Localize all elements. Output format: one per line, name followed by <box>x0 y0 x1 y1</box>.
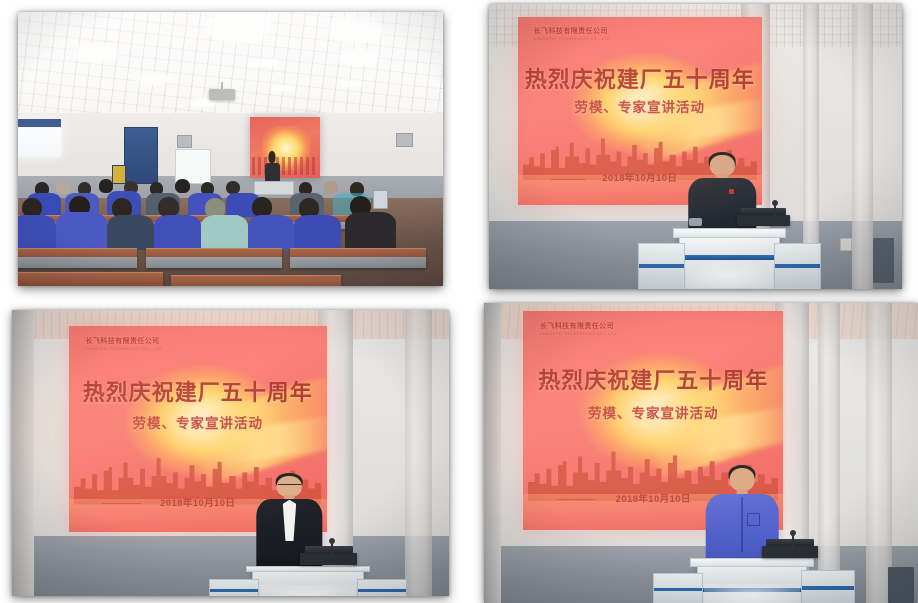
trash-bin <box>888 567 914 603</box>
speaker-uniform-pocket <box>747 513 760 526</box>
speaker-head <box>730 468 755 491</box>
laptop-lid <box>305 546 353 553</box>
slide-company-logo: 长飞科技有限责任公司 CHANGFEI TECHNOLOGY CO., LTD. <box>540 321 618 336</box>
wall-pillar <box>405 310 431 596</box>
podium-side-right <box>801 570 855 603</box>
podium-side-left <box>653 573 703 603</box>
wall-outlet <box>840 238 852 251</box>
slide-title: 热烈庆祝建厂五十周年 <box>69 375 327 407</box>
podium-ledge <box>246 566 371 573</box>
lecture-hall-front-scene: 长飞科技有限责任公司 CHANGFEI TECHNOLOGY CO., LTD.… <box>12 310 449 596</box>
podium-side-right <box>774 243 821 289</box>
laptop-icon <box>300 553 357 564</box>
laptop-icon <box>737 215 791 226</box>
slide-logo-cn: 长飞科技有限责任公司 <box>86 336 164 346</box>
slide-company-logo: 长飞科技有限责任公司 CHANGFEI TECHNOLOGY CO., LTD. <box>534 26 612 41</box>
photo-speaker-blue-content: 长飞科技有限责任公司 CHANGFEI TECHNOLOGY CO., LTD.… <box>484 303 918 603</box>
wall-pillar <box>818 303 840 603</box>
microphone-icon <box>792 534 794 549</box>
podium-stripe <box>358 589 406 591</box>
photo-collage: 长飞科技有限责任公司 CHANGFEI TECHNOLOGY CO., LTD.… <box>0 0 918 603</box>
podium-side-left <box>209 579 259 596</box>
podium-glow <box>260 585 356 596</box>
microphone-icon <box>774 204 776 221</box>
photo-speaker-blue[interactable]: 长飞科技有限责任公司 CHANGFEI TECHNOLOGY CO., LTD.… <box>484 303 918 603</box>
laptop-lid <box>766 539 813 546</box>
podium-glow <box>704 584 800 603</box>
slide-title: 热烈庆祝建厂五十周年 <box>523 363 783 395</box>
lecture-hall-front-scene: 长飞科技有限责任公司 CHANGFEI TECHNOLOGY CO., LTD.… <box>484 303 918 603</box>
podium <box>697 561 808 603</box>
podium-ledge <box>673 228 786 238</box>
wall-pillar-left <box>12 310 34 596</box>
photo-speaker-dark[interactable]: 长飞科技有限责任公司 CHANGFEI TECHNOLOGY CO., LTD.… <box>489 4 902 289</box>
podium-glow <box>686 260 773 287</box>
speaker-glasses-icon <box>278 484 300 488</box>
photo-speaker-dark-content: 长飞科技有限责任公司 CHANGFEI TECHNOLOGY CO., LTD.… <box>489 4 902 289</box>
lecture-hall-scene <box>18 12 443 286</box>
speaker-uniform-placket <box>741 497 743 552</box>
podium-stripe <box>802 586 854 590</box>
slide-subtitle: 劳模、专家宣讲活动 <box>523 402 783 422</box>
podium-ledge <box>690 558 814 566</box>
wall-pillar <box>866 303 892 603</box>
slide-company-logo: 长飞科技有限责任公司 CHANGFEI TECHNOLOGY CO., LTD. <box>86 336 164 351</box>
podium-side-left <box>638 243 685 289</box>
slide-logo-cn: 长飞科技有限责任公司 <box>534 26 612 36</box>
microphone-head <box>329 538 335 544</box>
wall-pillar <box>852 4 873 289</box>
photo-speaker-suit[interactable]: 长飞科技有限责任公司 CHANGFEI TECHNOLOGY CO., LTD.… <box>12 310 449 596</box>
podium-stripe <box>210 589 258 591</box>
podium <box>679 232 780 289</box>
photo-vignette <box>18 12 443 286</box>
slide-subtitle: 劳模、专家宣讲活动 <box>69 412 327 432</box>
wall-pillar-left <box>484 303 501 603</box>
laptop-icon <box>762 546 818 558</box>
podium-stripe <box>654 588 702 591</box>
speaker-sleeve-cuff <box>689 218 702 226</box>
slide-subtitle: 劳模、专家宣讲活动 <box>518 96 762 116</box>
slide-title: 热烈庆祝建厂五十周年 <box>518 62 762 94</box>
podium-side-right <box>357 579 407 596</box>
slide-logo-cn: 长飞科技有限责任公司 <box>540 321 618 331</box>
slide-logo-en: CHANGFEI TECHNOLOGY CO., LTD. <box>534 37 612 41</box>
trash-bin <box>873 238 894 284</box>
photo-speaker-suit-content: 长飞科技有限责任公司 CHANGFEI TECHNOLOGY CO., LTD.… <box>12 310 449 596</box>
laptop-lid <box>741 208 786 215</box>
slide-logo-en: CHANGFEI TECHNOLOGY CO., LTD. <box>540 332 618 336</box>
podium <box>252 567 363 596</box>
podium-stripe <box>775 264 820 269</box>
speaker-head <box>710 155 734 176</box>
speaker-badge <box>729 189 734 194</box>
lecture-hall-front-scene: 长飞科技有限责任公司 CHANGFEI TECHNOLOGY CO., LTD.… <box>489 4 902 289</box>
microphone-head <box>772 200 778 206</box>
photo-audience-content <box>18 12 443 286</box>
photo-audience[interactable] <box>18 12 443 286</box>
slide-logo-en: CHANGFEI TECHNOLOGY CO., LTD. <box>86 347 164 351</box>
podium-stripe <box>680 255 779 260</box>
podium-stripe <box>639 264 684 269</box>
microphone-icon <box>331 542 333 556</box>
